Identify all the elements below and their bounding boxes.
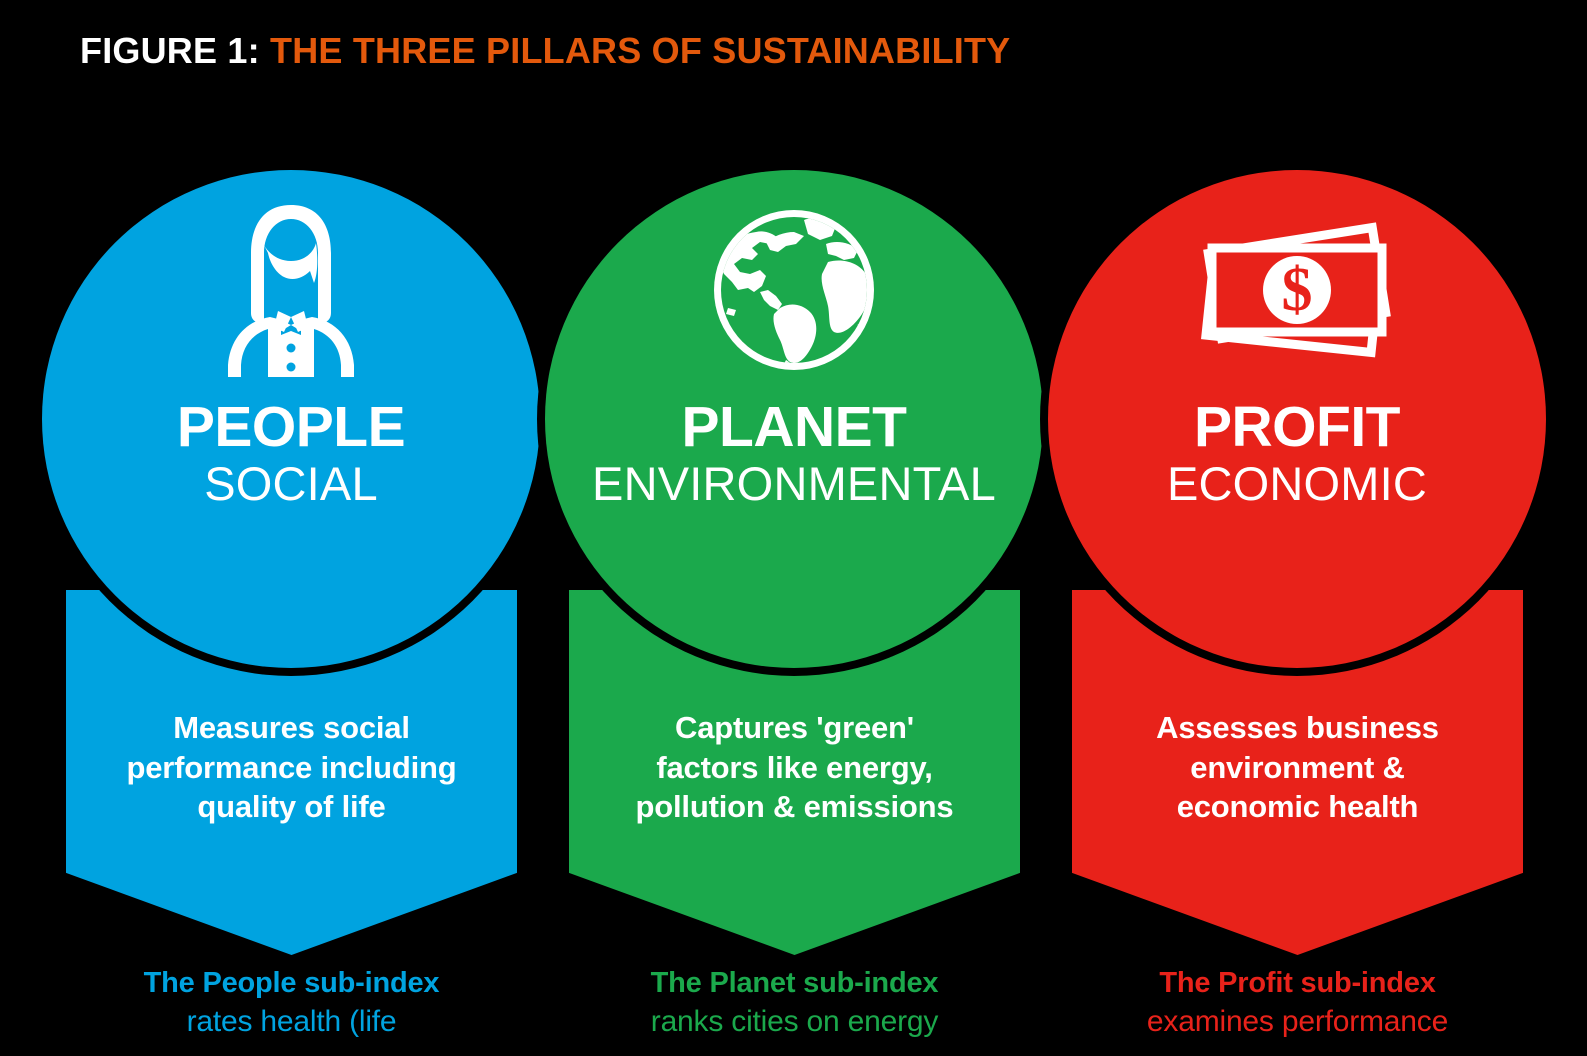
pillar-people[interactable]: Measures social performance including qu… [27,0,556,1056]
caption-body-people: rates health (life [27,1002,556,1041]
circle-profit[interactable]: $ PROFIT ECONOMIC [1048,170,1546,668]
pillar-title-people: PEOPLE [42,398,540,456]
pillar-subtitle-people: SOCIAL [42,458,540,511]
pillar-subtitle-profit: ECONOMIC [1048,458,1546,511]
circle-titles-profit: PROFIT ECONOMIC [1048,398,1546,511]
banner-line: quality of life [66,787,517,827]
banner-description-profit: Assesses business environment & economic… [1072,708,1523,827]
caption-head-planet: The Planet sub-index [530,965,1059,1002]
money-banknotes-icon: $ [1048,200,1546,380]
caption-body-profit: examines performance [1033,1002,1562,1041]
caption-head-profit: The Profit sub-index [1033,965,1562,1002]
banner-line: environment & [1072,748,1523,788]
banner-description-people: Measures social performance including qu… [66,708,517,827]
pillar-planet[interactable]: Captures 'green' factors like energy, po… [530,0,1059,1056]
circle-people[interactable]: PEOPLE SOCIAL [42,170,540,668]
pillar-profit[interactable]: Assesses business environment & economic… [1033,0,1562,1056]
banner-line: performance including [66,748,517,788]
pillars-container: Measures social performance including qu… [0,0,1587,1056]
caption-profit: The Profit sub-index examines performanc… [1033,965,1562,1041]
caption-body-planet: ranks cities on energy [530,1002,1059,1041]
banner-line: pollution & emissions [569,787,1020,827]
banner-line: Captures 'green' [569,708,1020,748]
pillar-subtitle-planet: ENVIRONMENTAL [545,458,1043,511]
caption-head-people: The People sub-index [27,965,556,1002]
banner-line: Assesses business [1072,708,1523,748]
circle-titles-people: PEOPLE SOCIAL [42,398,540,511]
caption-people: The People sub-index rates health (life [27,965,556,1041]
banner-line: economic health [1072,787,1523,827]
pillar-title-profit: PROFIT [1048,398,1546,456]
dollar-sign-glyph: $ [1282,256,1313,324]
pillar-title-planet: PLANET [545,398,1043,456]
banner-description-planet: Captures 'green' factors like energy, po… [569,708,1020,827]
circle-planet[interactable]: PLANET ENVIRONMENTAL [545,170,1043,668]
globe-icon [545,200,1043,380]
caption-planet: The Planet sub-index ranks cities on ene… [530,965,1059,1041]
circle-titles-planet: PLANET ENVIRONMENTAL [545,398,1043,511]
person-female-icon [42,200,540,380]
banner-line: factors like energy, [569,748,1020,788]
button-dot [287,363,296,372]
banner-line: Measures social [66,708,517,748]
button-dot [287,344,296,353]
